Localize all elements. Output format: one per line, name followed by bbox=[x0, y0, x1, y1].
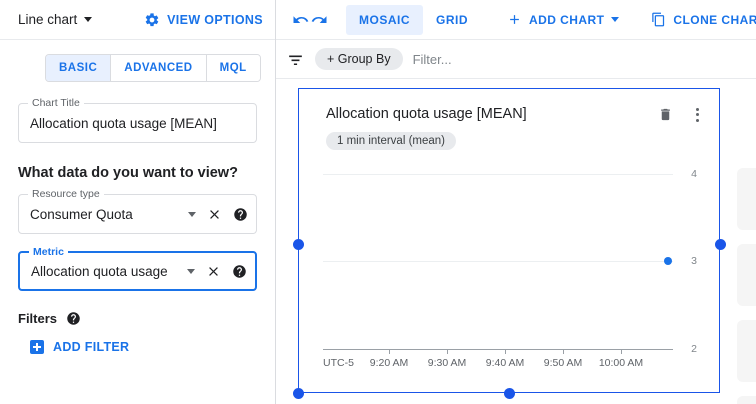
interval-chip: 1 min interval (mean) bbox=[326, 132, 456, 150]
x-tick-label-2: 9:30 AM bbox=[428, 357, 467, 369]
clone-chart-label: CLONE CHART bbox=[673, 13, 756, 27]
mosaic-chart-editor: Line chart VIEW OPTIONS BASIC ADVANCED M bbox=[0, 0, 756, 404]
tab-advanced-label: ADVANCED bbox=[124, 62, 192, 74]
chart-card-header: Allocation quota usage [MEAN] bbox=[299, 89, 719, 123]
dashboard-canvas: Allocation quota usage [MEAN] 1 min inte… bbox=[276, 79, 756, 404]
layout-mode-grid-label: GRID bbox=[436, 13, 468, 27]
chart-title-field[interactable]: Chart Title Allocation quota usage [MEAN… bbox=[18, 103, 257, 143]
x-tick-label-4: 9:50 AM bbox=[544, 357, 583, 369]
data-point bbox=[664, 257, 672, 265]
chart-title-value: Allocation quota usage [MEAN] bbox=[30, 116, 248, 131]
x-tick-3 bbox=[505, 349, 506, 354]
y-tick-label-4: 4 bbox=[691, 168, 697, 180]
adjacent-card-4[interactable] bbox=[737, 396, 756, 404]
x-tick-2 bbox=[447, 349, 448, 354]
timezone-label: UTC-5 bbox=[323, 357, 354, 369]
config-tabs: BASIC ADVANCED MQL bbox=[45, 54, 261, 82]
chevron-down-icon bbox=[84, 17, 92, 22]
resource-type-label: Resource type bbox=[28, 189, 104, 200]
adjacent-chart-cards bbox=[737, 168, 756, 404]
dashboard-toolbar: MOSAIC GRID ADD CHART CLONE CHART bbox=[276, 0, 756, 40]
layout-mode-mosaic[interactable]: MOSAIC bbox=[346, 5, 423, 35]
chart-type-dropdown[interactable]: Line chart bbox=[18, 12, 92, 27]
chart-type-label: Line chart bbox=[18, 12, 77, 27]
view-options-label: VIEW OPTIONS bbox=[167, 13, 263, 27]
chart-config-panel: Line chart VIEW OPTIONS BASIC ADVANCED M bbox=[0, 0, 276, 404]
help-icon[interactable] bbox=[66, 311, 81, 326]
resize-handle-bottom-left[interactable] bbox=[293, 388, 304, 399]
filters-heading: Filters bbox=[18, 311, 57, 326]
x-tick-label-1: 9:20 AM bbox=[370, 357, 409, 369]
chart-plot-area: 4 3 2 UTC-5 9:20 AM 9:30 AM 9:40 AM bbox=[299, 160, 719, 350]
resize-handle-bottom[interactable] bbox=[504, 388, 515, 399]
chart-card[interactable]: Allocation quota usage [MEAN] 1 min inte… bbox=[298, 88, 720, 393]
resource-type-field[interactable]: Resource type Consumer Quota bbox=[18, 194, 257, 234]
view-options-button[interactable]: VIEW OPTIONS bbox=[144, 12, 263, 28]
filter-list-icon[interactable] bbox=[286, 50, 305, 69]
plus-icon bbox=[30, 340, 44, 354]
help-icon[interactable] bbox=[232, 264, 247, 279]
add-filter-button[interactable]: ADD FILTER bbox=[30, 340, 129, 354]
tab-advanced[interactable]: ADVANCED bbox=[111, 55, 206, 81]
clear-icon[interactable] bbox=[207, 207, 222, 222]
tab-mql[interactable]: MQL bbox=[207, 55, 260, 81]
chart-card-title: Allocation quota usage [MEAN] bbox=[326, 105, 658, 123]
resize-handle-right[interactable] bbox=[715, 239, 726, 250]
undo-icon bbox=[292, 11, 310, 29]
x-tick-1 bbox=[389, 349, 390, 354]
group-by-chip[interactable]: + Group By bbox=[315, 48, 403, 70]
filters-heading-row: Filters bbox=[18, 311, 257, 326]
resource-type-value: Consumer Quota bbox=[30, 207, 182, 222]
clear-icon[interactable] bbox=[206, 264, 221, 279]
metric-field[interactable]: Metric Allocation quota usage bbox=[18, 251, 257, 291]
chart-title-label: Chart Title bbox=[28, 98, 84, 109]
tab-basic-label: BASIC bbox=[59, 62, 97, 74]
layout-mode-toggle: MOSAIC GRID bbox=[346, 5, 481, 35]
more-vert-icon[interactable] bbox=[689, 106, 705, 123]
redo-icon bbox=[310, 11, 328, 29]
tab-mql-label: MQL bbox=[220, 62, 247, 74]
layout-mode-grid[interactable]: GRID bbox=[423, 5, 481, 35]
resize-handle-left[interactable] bbox=[293, 239, 304, 250]
metric-value: Allocation quota usage bbox=[31, 264, 181, 279]
plus-icon bbox=[507, 12, 522, 27]
x-tick-5 bbox=[621, 349, 622, 354]
undo-button[interactable] bbox=[292, 5, 310, 35]
adjacent-card-1[interactable] bbox=[737, 168, 756, 230]
metric-label: Metric bbox=[29, 247, 68, 258]
x-tick-label-3: 9:40 AM bbox=[486, 357, 525, 369]
clone-icon bbox=[651, 12, 666, 27]
redo-button[interactable] bbox=[310, 5, 328, 35]
config-tabs-row: BASIC ADVANCED MQL bbox=[0, 40, 275, 82]
x-tick-label-5: 10:00 AM bbox=[599, 357, 643, 369]
adjacent-card-2[interactable] bbox=[737, 244, 756, 306]
resource-type-actions bbox=[182, 207, 248, 222]
filter-input[interactable]: Filter... bbox=[413, 52, 452, 67]
chevron-down-icon bbox=[611, 17, 619, 22]
config-panel-header: Line chart VIEW OPTIONS bbox=[0, 0, 275, 40]
data-question-heading: What data do you want to view? bbox=[18, 165, 257, 181]
x-tick-4 bbox=[563, 349, 564, 354]
dashboard-panel: MOSAIC GRID ADD CHART CLONE CHART bbox=[276, 0, 756, 404]
add-chart-button[interactable]: ADD CHART bbox=[507, 12, 619, 27]
filter-bar: + Group By Filter... bbox=[276, 40, 756, 79]
help-icon[interactable] bbox=[233, 207, 248, 222]
gridline-3 bbox=[323, 261, 673, 262]
layout-mode-mosaic-label: MOSAIC bbox=[359, 13, 410, 27]
chevron-down-icon[interactable] bbox=[187, 269, 195, 274]
clone-chart-button[interactable]: CLONE CHART bbox=[651, 12, 756, 27]
trash-icon[interactable] bbox=[658, 106, 673, 123]
adjacent-card-3[interactable] bbox=[737, 320, 756, 382]
chevron-down-icon[interactable] bbox=[188, 212, 196, 217]
y-tick-label-2: 2 bbox=[691, 343, 697, 355]
add-chart-label: ADD CHART bbox=[529, 13, 604, 27]
gridline-4 bbox=[323, 174, 673, 175]
gear-icon bbox=[144, 12, 160, 28]
chart-card-actions bbox=[658, 105, 705, 123]
metric-actions bbox=[181, 264, 247, 279]
add-filter-label: ADD FILTER bbox=[53, 340, 129, 354]
y-tick-label-3: 3 bbox=[691, 255, 697, 267]
tab-basic[interactable]: BASIC bbox=[46, 55, 111, 81]
